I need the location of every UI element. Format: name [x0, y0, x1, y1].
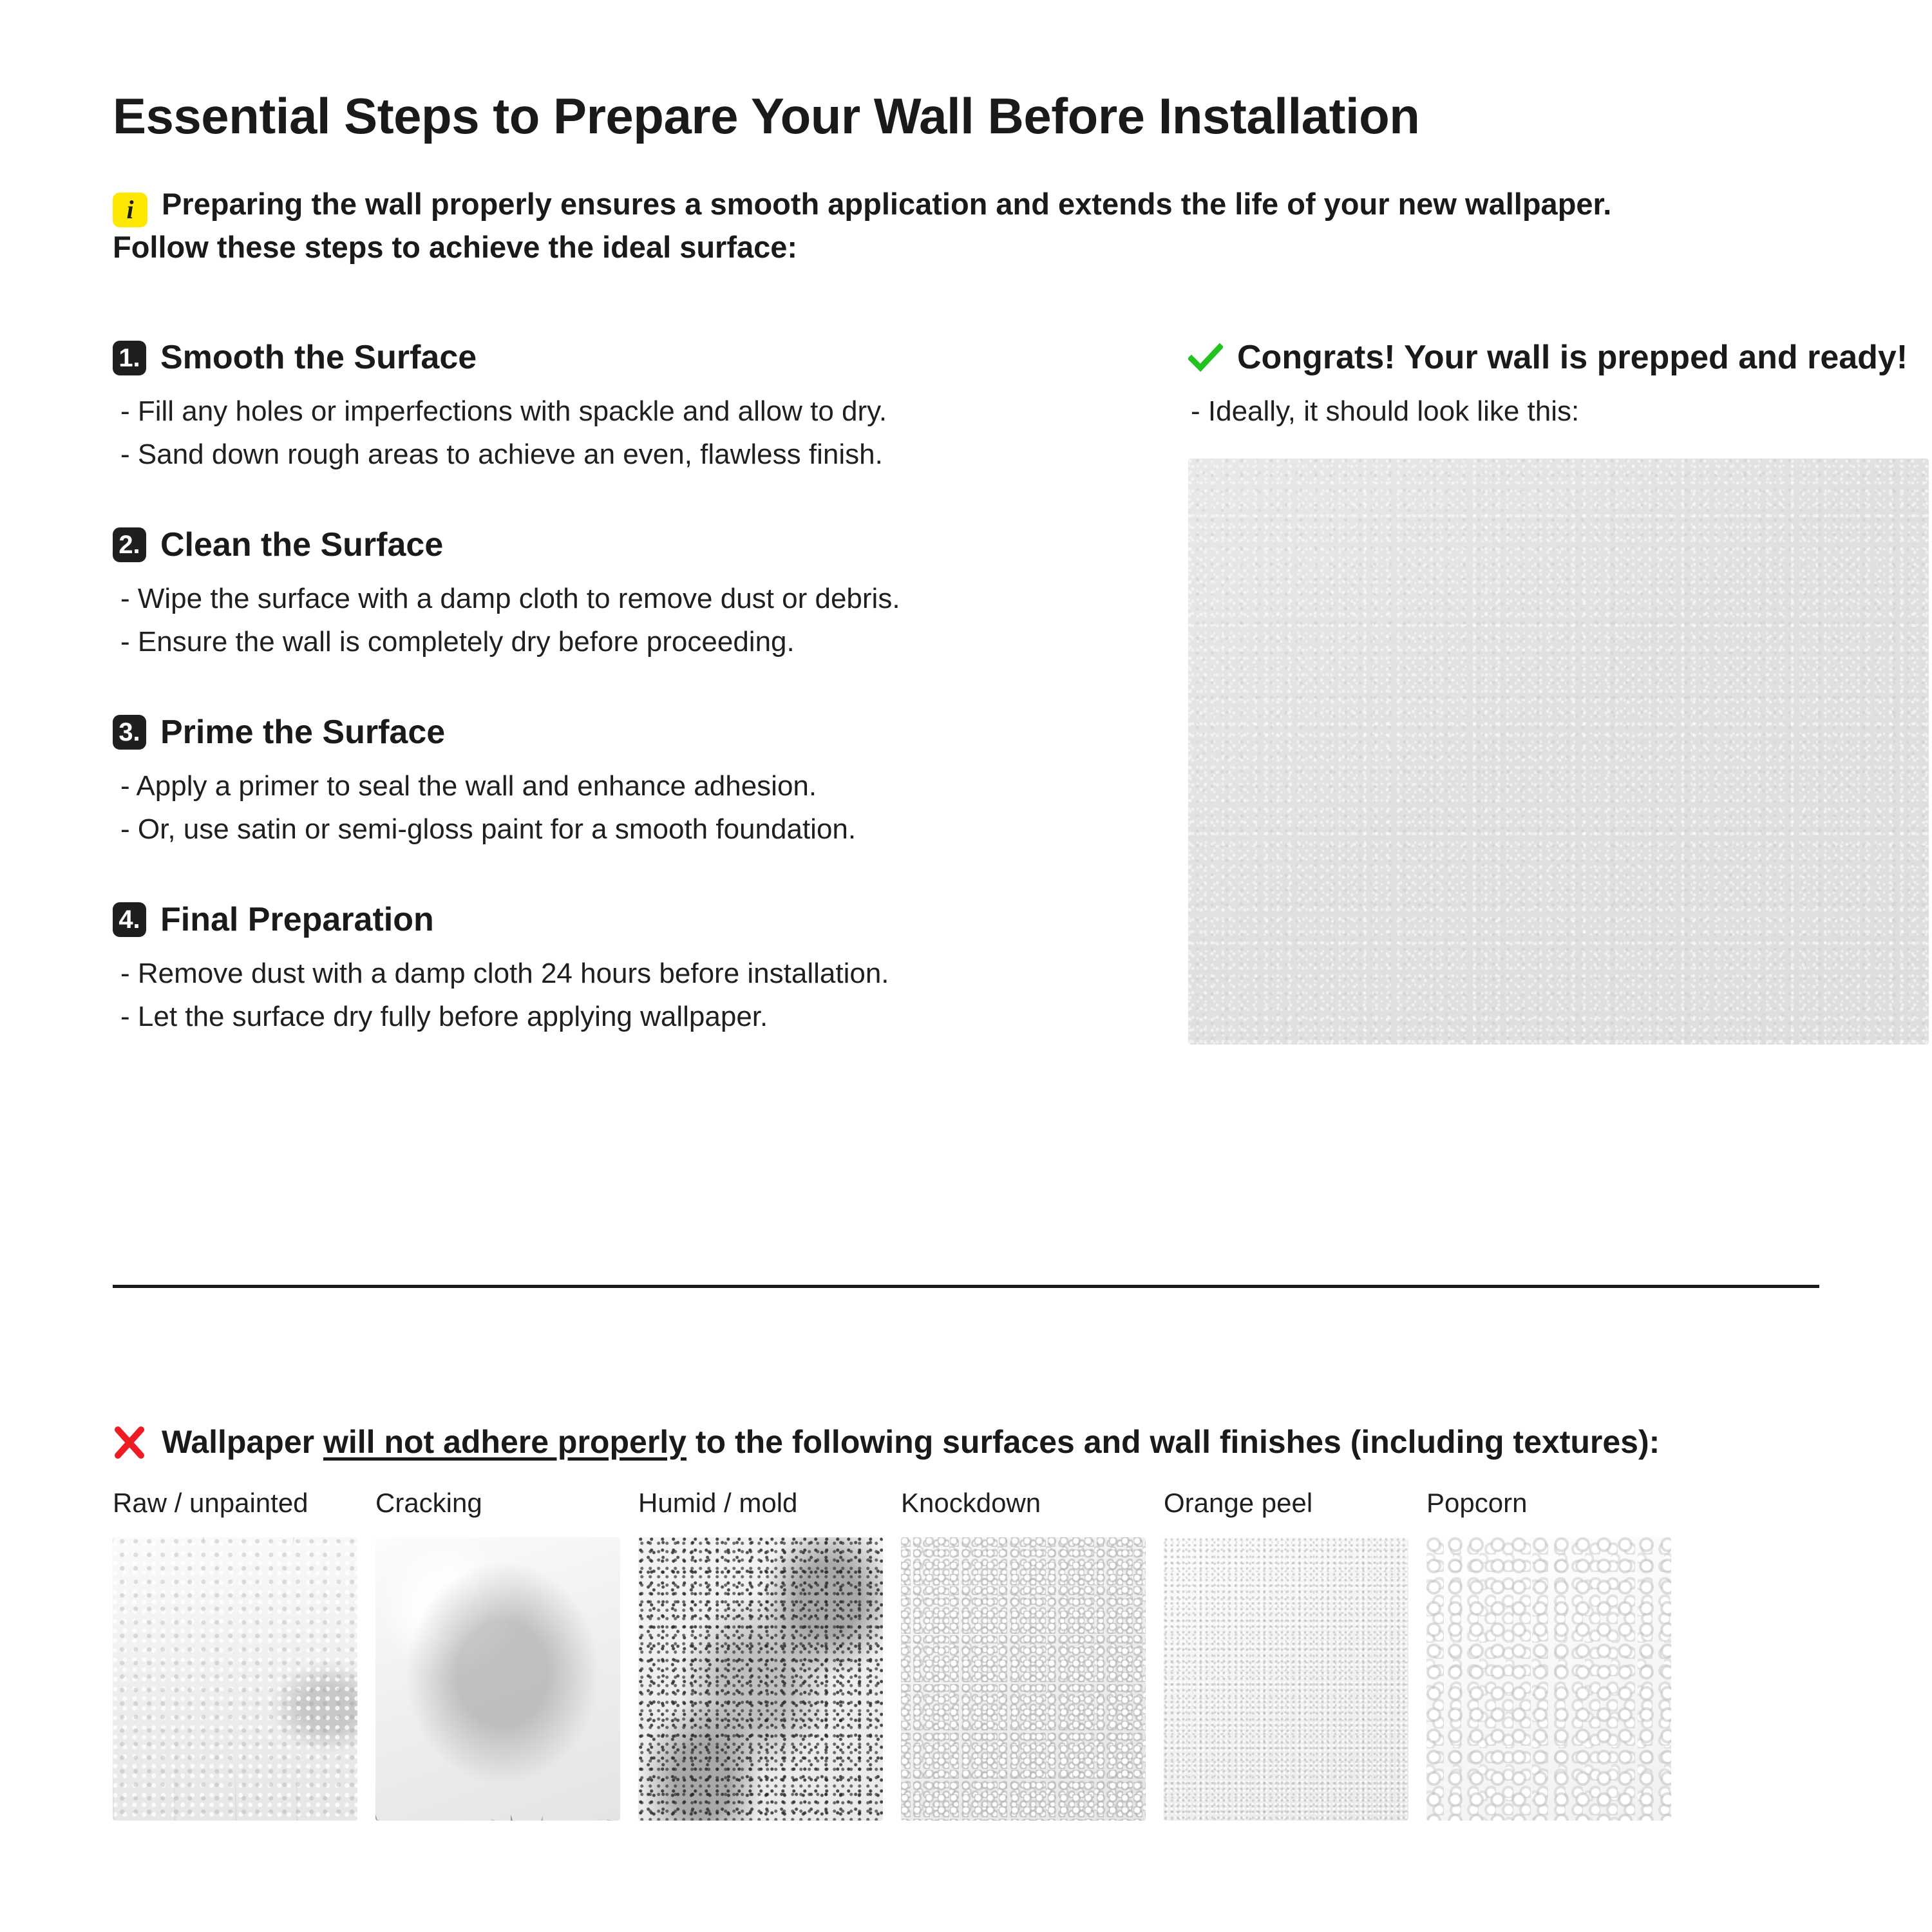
sample-label: Cracking [375, 1487, 620, 1519]
step-header: 3. Prime the Surface [113, 714, 1066, 751]
step-number-badge: 3. [113, 715, 146, 750]
bad-surface-samples: Raw / unpainted Cracking Humid / mold Kn… [113, 1487, 1819, 1821]
warning-text-after: to the following surfaces and wall finis… [687, 1424, 1660, 1460]
surface-sample: Orange peel [1164, 1487, 1408, 1821]
intro-line-2: Follow these steps to achieve the ideal … [113, 230, 797, 264]
warning-text-before: Wallpaper [162, 1424, 323, 1460]
humid-mold-texture [638, 1537, 883, 1821]
result-title: Congrats! Your wall is prepped and ready… [1237, 339, 1908, 376]
step-number-badge: 4. [113, 902, 146, 937]
step-title: Final Preparation [160, 902, 434, 938]
result-subtitle: - Ideally, it should look like this: [1188, 392, 1929, 431]
step-bullet: - Let the surface dry fully before apply… [113, 996, 1066, 1039]
step-bullet: - Sand down rough areas to achieve an ev… [113, 433, 1066, 477]
warning-text: Wallpaper will not adhere properly to th… [162, 1425, 1660, 1460]
surface-sample: Knockdown [901, 1487, 1146, 1821]
result-header: Congrats! Your wall is prepped and ready… [1188, 339, 1929, 376]
knockdown-texture [901, 1537, 1146, 1821]
step-bullet: - Ensure the wall is completely dry befo… [113, 621, 1066, 664]
raw-unpainted-texture [113, 1537, 357, 1821]
section-divider [113, 1285, 1819, 1288]
step-title: Smooth the Surface [160, 339, 477, 376]
surface-sample: Cracking [375, 1487, 620, 1821]
check-icon [1188, 341, 1223, 375]
step-title: Prime the Surface [160, 714, 445, 751]
sample-label: Knockdown [901, 1487, 1146, 1519]
sample-label: Humid / mold [638, 1487, 883, 1519]
sample-label: Orange peel [1164, 1487, 1408, 1519]
step-bullet: - Remove dust with a damp cloth 24 hours… [113, 952, 1066, 996]
result-column: Congrats! Your wall is prepped and ready… [1066, 339, 1929, 1045]
warning-section: Wallpaper will not adhere properly to th… [113, 1425, 1819, 1821]
step-item: 1. Smooth the Surface - Fill any holes o… [113, 339, 1066, 477]
content-columns: 1. Smooth the Surface - Fill any holes o… [113, 339, 1819, 1045]
step-bullet: - Wipe the surface with a damp cloth to … [113, 578, 1066, 621]
x-icon [113, 1426, 146, 1459]
warning-text-underlined: will not adhere properly [323, 1424, 687, 1460]
sample-label: Raw / unpainted [113, 1487, 357, 1519]
orange-peel-texture [1164, 1537, 1408, 1821]
surface-sample: Humid / mold [638, 1487, 883, 1821]
step-bullet: - Or, use satin or semi-gloss paint for … [113, 808, 1066, 851]
step-number-badge: 1. [113, 341, 146, 375]
step-item: 3. Prime the Surface - Apply a primer to… [113, 714, 1066, 851]
intro-paragraph: iPreparing the wall properly ensures a s… [113, 184, 1819, 267]
ideal-wall-image [1188, 459, 1929, 1045]
step-item: 2. Clean the Surface - Wipe the surface … [113, 527, 1066, 664]
step-header: 1. Smooth the Surface [113, 339, 1066, 376]
intro-line-1: Preparing the wall properly ensures a sm… [162, 187, 1611, 221]
step-bullet: - Apply a primer to seal the wall and en… [113, 765, 1066, 808]
page-title: Essential Steps to Prepare Your Wall Bef… [113, 0, 1819, 143]
step-title: Clean the Surface [160, 527, 443, 563]
surface-sample: Raw / unpainted [113, 1487, 357, 1821]
step-bullet: - Fill any holes or imperfections with s… [113, 390, 1066, 433]
wall-preparation-guide: Essential Steps to Prepare Your Wall Bef… [0, 0, 1932, 1932]
step-header: 4. Final Preparation [113, 902, 1066, 938]
cracking-paint-texture [375, 1537, 620, 1821]
popcorn-texture [1426, 1537, 1671, 1821]
step-header: 2. Clean the Surface [113, 527, 1066, 563]
surface-sample: Popcorn [1426, 1487, 1671, 1821]
sample-label: Popcorn [1426, 1487, 1671, 1519]
info-icon: i [113, 193, 147, 227]
warning-header: Wallpaper will not adhere properly to th… [113, 1425, 1819, 1460]
steps-column: 1. Smooth the Surface - Fill any holes o… [113, 339, 1066, 1045]
step-number-badge: 2. [113, 527, 146, 562]
step-item: 4. Final Preparation - Remove dust with … [113, 902, 1066, 1039]
